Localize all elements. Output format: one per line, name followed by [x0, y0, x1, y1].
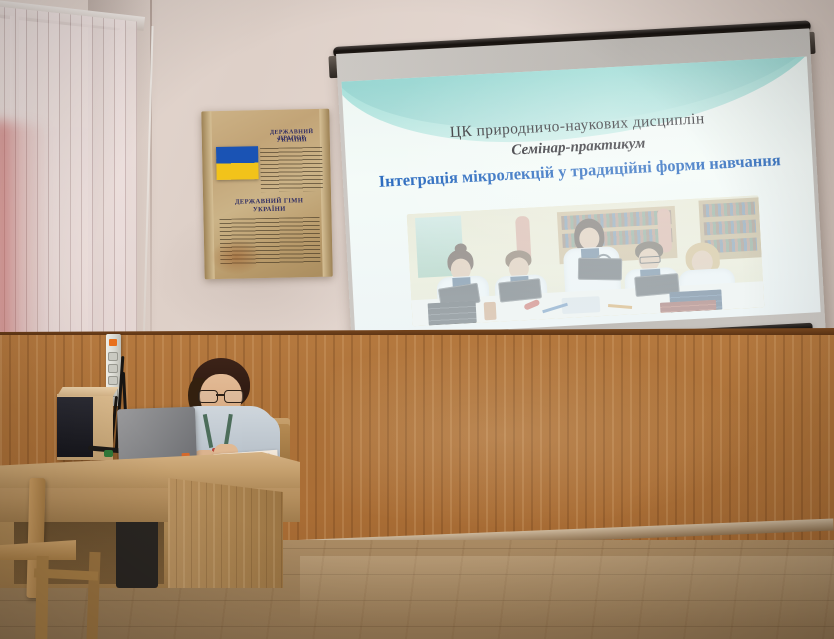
lens-right — [224, 390, 244, 403]
socket-1[interactable] — [108, 352, 118, 361]
eyeglasses — [198, 390, 244, 401]
ukraine-flag — [216, 146, 259, 180]
ukraine-state-symbols-poster: ДЕРЖАВНИЙ ПРАПОР УКРАЇНИ ДЕРЖАВНИЙ ГІМН … — [201, 109, 332, 280]
lens-left — [198, 390, 218, 403]
classroom-photo: ДЕРЖАВНИЙ ПРАПОР УКРАЇНИ ДЕРЖАВНИЙ ГІМН … — [0, 0, 834, 639]
poster-heading-flag-sub: УКРАЇНИ — [260, 137, 324, 144]
poster-aged-stain — [210, 238, 263, 275]
speaker-top-face — [57, 387, 119, 396]
poster-body-text-flag — [260, 147, 323, 192]
glasses-bridge — [216, 394, 224, 396]
slide-projector-glare — [342, 57, 821, 338]
projection-screen: ЦК природничо-наукових дисциплін Семінар… — [336, 28, 826, 365]
green-connector — [104, 450, 113, 457]
poster-heading-anthem-sub: УКРАЇНИ — [217, 205, 321, 214]
wainscot-light-reflection — [330, 340, 760, 530]
projected-slide: ЦК природничо-наукових дисциплін Семінар… — [342, 57, 821, 338]
socket-3[interactable] — [108, 376, 118, 385]
socket-2[interactable] — [108, 364, 118, 373]
power-switch[interactable] — [109, 339, 117, 346]
floor-reflection — [300, 556, 834, 626]
